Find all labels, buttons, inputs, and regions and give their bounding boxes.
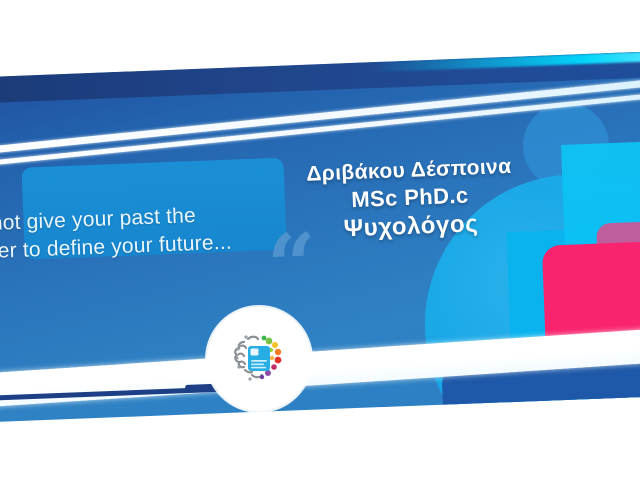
person-identity-block: Δριβάκου Δέσποινα MSc PhD.c Ψυχολόγος bbox=[264, 153, 557, 246]
cover-banner-image: “ “ Do not give your past the power to d… bbox=[0, 0, 640, 480]
quote-text: Do not give your past the power to defin… bbox=[0, 199, 289, 267]
logo-badge bbox=[207, 307, 311, 411]
brain-emblem-icon bbox=[228, 330, 290, 388]
banner-background: “ “ Do not give your past the power to d… bbox=[0, 50, 640, 423]
